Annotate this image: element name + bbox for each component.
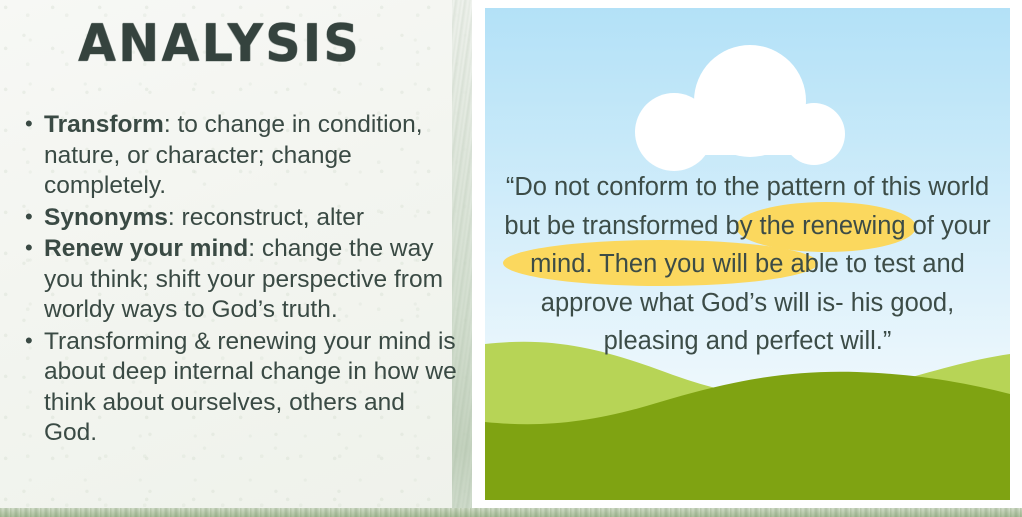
cloud-lobe-right (783, 103, 845, 165)
quote-part-3: . Then you will be able to test and appr… (541, 250, 965, 355)
bottom-texture-strip (0, 508, 1022, 517)
page-title: ANALYSIS (78, 14, 360, 74)
bullet-term: Transform (44, 111, 164, 138)
scripture-illustration-panel: “Do not conform to the pattern of this w… (485, 8, 1010, 500)
bullet-definition: reconstruct, alter (182, 204, 364, 231)
list-item: Transform: to change in condition, natur… (16, 110, 464, 202)
slide-canvas: ANALYSIS Transform: to change in conditi… (0, 0, 1022, 517)
quote-part-2: by the (718, 212, 802, 240)
bullet-separator: : (164, 111, 178, 138)
quote-highlight-transformed: transformed (582, 212, 718, 240)
scripture-quote: “Do not conform to the pattern of this w… (493, 168, 1002, 361)
bullet-separator: : (248, 235, 262, 262)
bullet-term: Renew your mind (44, 235, 248, 262)
list-item: Transforming & renewing your mind is abo… (16, 327, 464, 449)
list-item: Renew your mind: change the way you thin… (16, 234, 464, 326)
analysis-bullet-list: Transform: to change in condition, natur… (16, 110, 464, 450)
cloud-lobe-left (635, 93, 713, 171)
bullet-term: Synonyms (44, 204, 168, 231)
bullet-separator: : (168, 204, 182, 231)
bullet-definition: Transforming & renewing your mind is abo… (44, 328, 457, 447)
list-item: Synonyms: reconstruct, alter (16, 203, 464, 234)
